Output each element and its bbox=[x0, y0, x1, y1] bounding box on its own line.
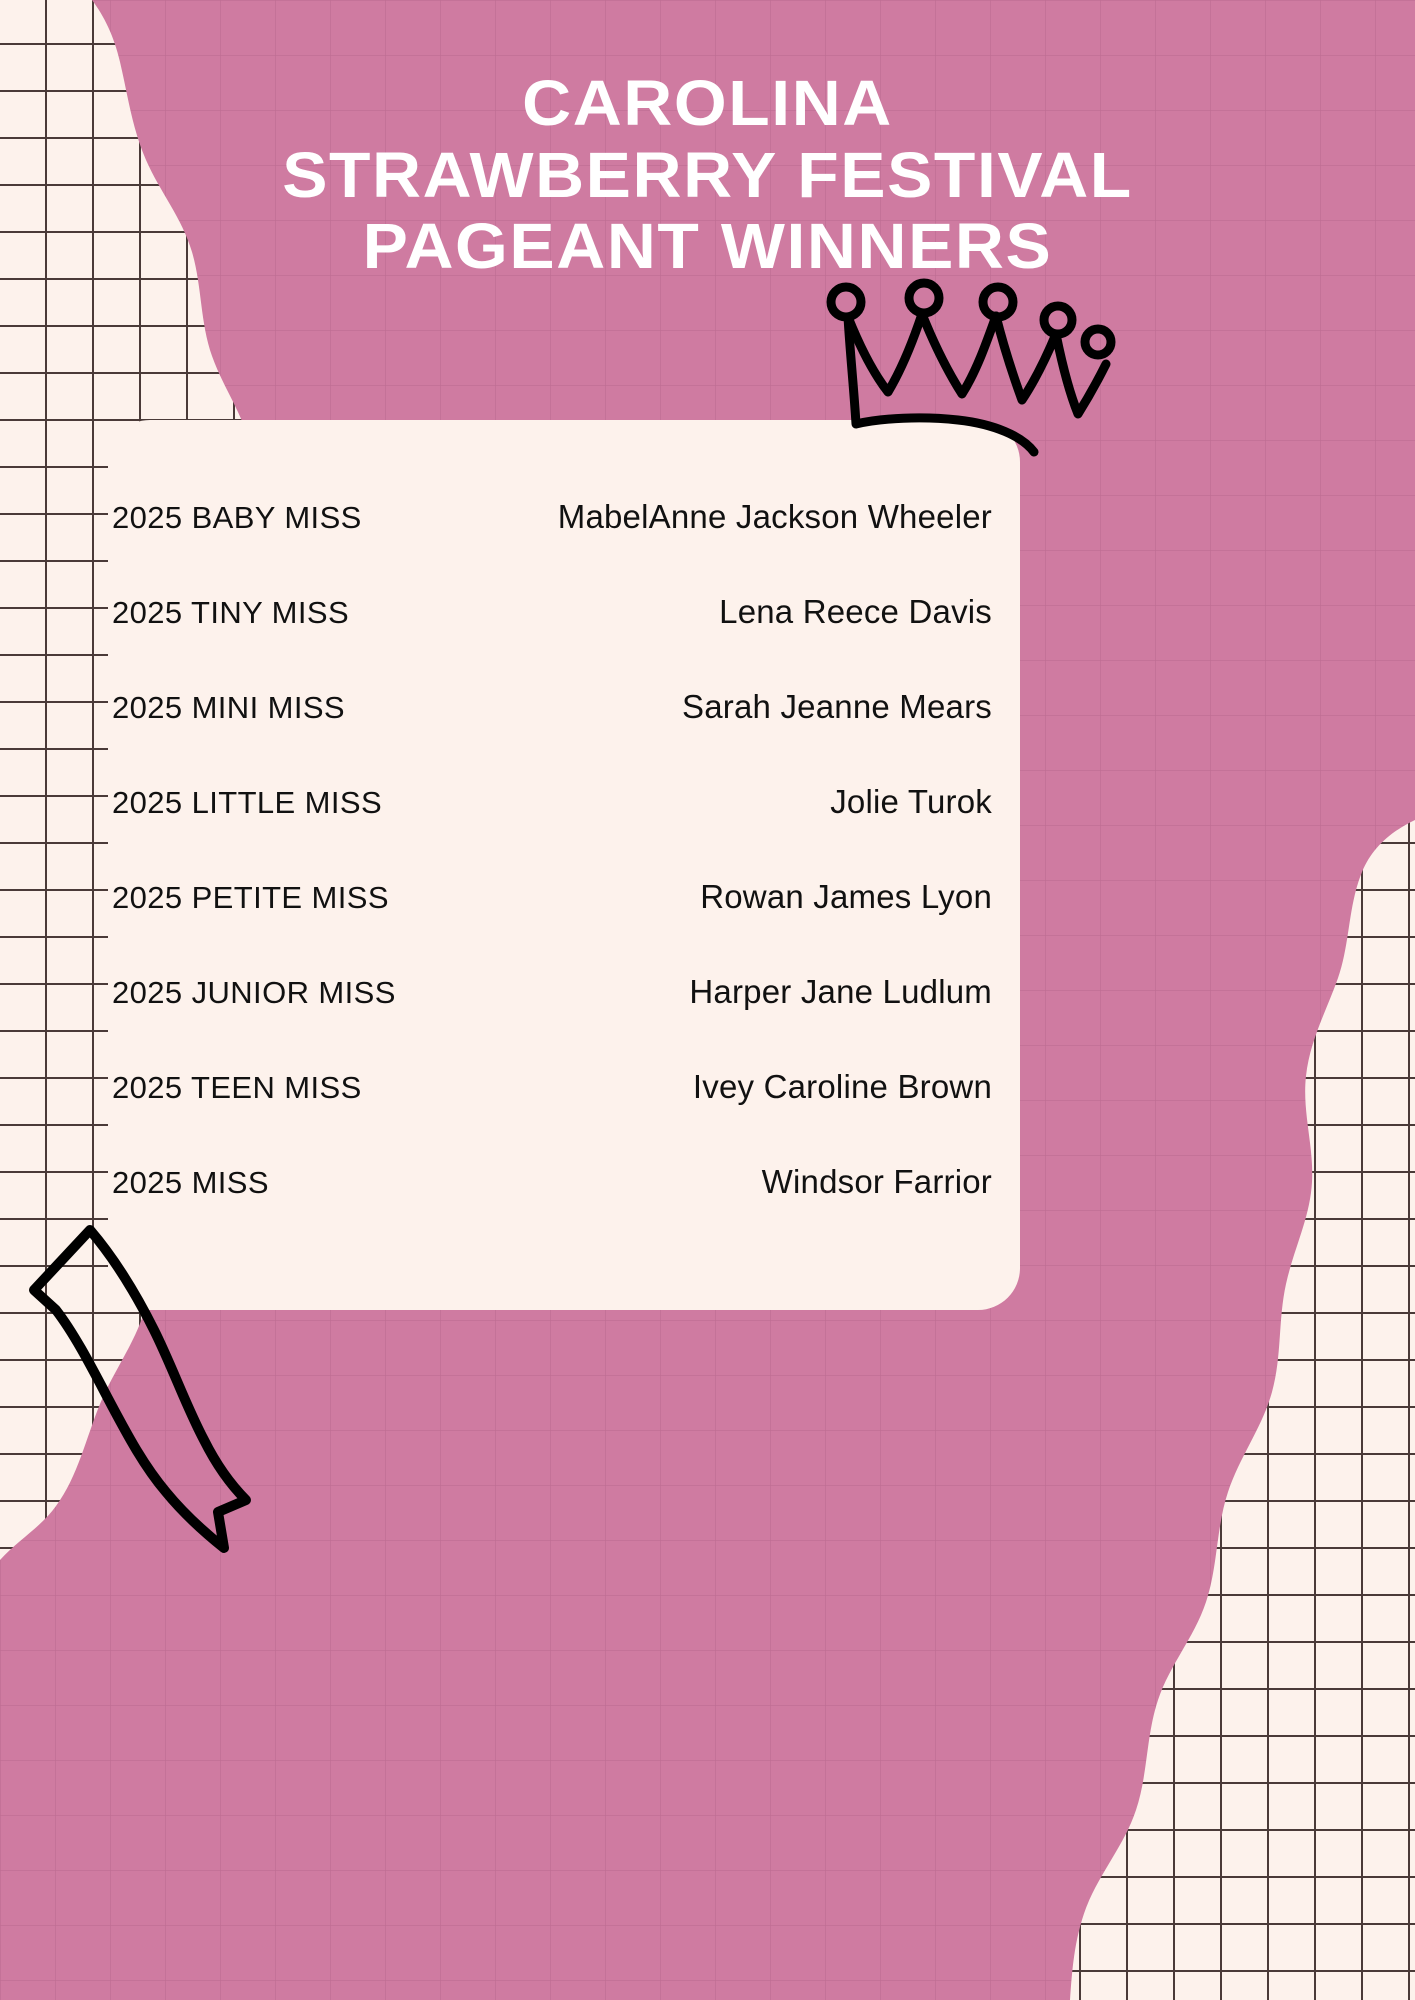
table-row: 2025 BABY MISS MabelAnne Jackson Wheeler bbox=[112, 498, 992, 593]
winner-category: 2025 LITTLE MISS bbox=[112, 785, 382, 821]
title-line-1: CAROLINA bbox=[42, 68, 1372, 140]
table-row: 2025 PETITE MISS Rowan James Lyon bbox=[112, 878, 992, 973]
winner-name: Lena Reece Davis bbox=[719, 593, 992, 631]
winner-name: Jolie Turok bbox=[830, 783, 992, 821]
title-line-3: PAGEANT WINNERS bbox=[42, 211, 1372, 283]
winner-category: 2025 MINI MISS bbox=[112, 690, 345, 726]
table-row: 2025 TEEN MISS Ivey Caroline Brown bbox=[112, 1068, 992, 1163]
winner-name: Sarah Jeanne Mears bbox=[682, 688, 992, 726]
winner-name: Windsor Farrior bbox=[762, 1163, 992, 1201]
winner-name: MabelAnne Jackson Wheeler bbox=[558, 498, 992, 536]
winner-name: Harper Jane Ludlum bbox=[689, 973, 992, 1011]
table-row: 2025 MISS Windsor Farrior bbox=[112, 1163, 992, 1258]
winner-category: 2025 TINY MISS bbox=[112, 595, 349, 631]
winner-category: 2025 TEEN MISS bbox=[112, 1070, 362, 1106]
table-row: 2025 JUNIOR MISS Harper Jane Ludlum bbox=[112, 973, 992, 1068]
winner-name: Rowan James Lyon bbox=[700, 878, 992, 916]
winner-category: 2025 JUNIOR MISS bbox=[112, 975, 396, 1011]
title-line-2: STRAWBERRY FESTIVAL bbox=[42, 140, 1372, 212]
table-row: 2025 MINI MISS Sarah Jeanne Mears bbox=[112, 688, 992, 783]
table-row: 2025 LITTLE MISS Jolie Turok bbox=[112, 783, 992, 878]
winner-name: Ivey Caroline Brown bbox=[693, 1068, 992, 1106]
winners-table: 2025 BABY MISS MabelAnne Jackson Wheeler… bbox=[112, 498, 992, 1258]
table-row: 2025 TINY MISS Lena Reece Davis bbox=[112, 593, 992, 688]
page-title: CAROLINA STRAWBERRY FESTIVAL PAGEANT WIN… bbox=[0, 68, 1415, 283]
winner-category: 2025 PETITE MISS bbox=[112, 880, 389, 916]
winner-category: 2025 MISS bbox=[112, 1165, 269, 1201]
poster-canvas: CAROLINA STRAWBERRY FESTIVAL PAGEANT WIN… bbox=[0, 0, 1415, 2000]
winner-category: 2025 BABY MISS bbox=[112, 500, 362, 536]
